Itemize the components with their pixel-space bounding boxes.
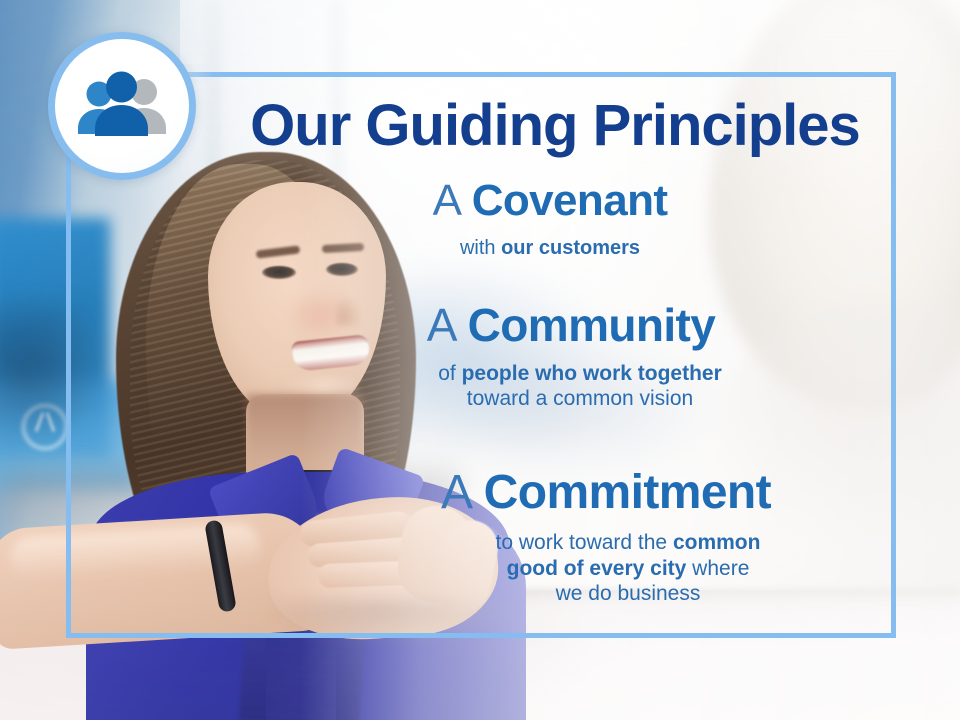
subtext-regular: where bbox=[686, 557, 749, 580]
principle-subtext-line: we do business bbox=[356, 581, 900, 607]
subtext-regular: with bbox=[460, 237, 501, 259]
principle-community: A Community of people who work togethert… bbox=[200, 302, 900, 412]
principle-keyword: Commitment bbox=[484, 466, 771, 519]
principle-subtext: with our customers bbox=[200, 236, 900, 260]
subtext-emphasis: good of every city bbox=[507, 557, 687, 580]
subtext-emphasis: our customers bbox=[501, 237, 640, 259]
principle-subtext-line: good of every city where bbox=[356, 556, 900, 582]
people-badge bbox=[48, 32, 196, 180]
principle-subtext-line: of people who work together bbox=[260, 361, 900, 387]
principle-article: A bbox=[427, 299, 468, 351]
guiding-principles-graphic: FLOW FLOW Automotive bbox=[0, 0, 960, 720]
principle-subtext-line: toward a common vision bbox=[260, 386, 900, 412]
employee-eye bbox=[262, 266, 296, 279]
principle-commitment: A Commitment to work toward the commongo… bbox=[200, 468, 900, 607]
subtext-emphasis: people who work together bbox=[462, 362, 722, 385]
subtext-regular: we do business bbox=[556, 582, 701, 605]
principle-heading: A Community bbox=[200, 302, 900, 350]
page-title: Our Guiding Principles bbox=[220, 96, 890, 155]
subtext-regular: to work toward the bbox=[496, 531, 673, 554]
principle-keyword: Community bbox=[468, 299, 716, 351]
subtext-regular: toward a common vision bbox=[467, 387, 693, 410]
principle-subtext: to work toward the commongood of every c… bbox=[200, 530, 900, 607]
principle-subtext-line: with our customers bbox=[200, 236, 900, 260]
principle-heading: A Commitment bbox=[200, 468, 900, 518]
principle-heading: A Covenant bbox=[200, 178, 900, 224]
employee-eye bbox=[326, 263, 358, 276]
principle-keyword: Covenant bbox=[472, 176, 668, 225]
subtext-regular: of bbox=[438, 362, 461, 385]
principle-article: A bbox=[441, 466, 484, 519]
people-group-icon bbox=[74, 70, 170, 142]
principle-subtext: of people who work togethertoward a comm… bbox=[200, 361, 900, 412]
subtext-emphasis: common bbox=[673, 531, 761, 554]
principle-article: A bbox=[433, 176, 472, 225]
principle-subtext-line: to work toward the common bbox=[356, 530, 900, 556]
principle-covenant: A Covenant with our customers bbox=[200, 178, 900, 260]
